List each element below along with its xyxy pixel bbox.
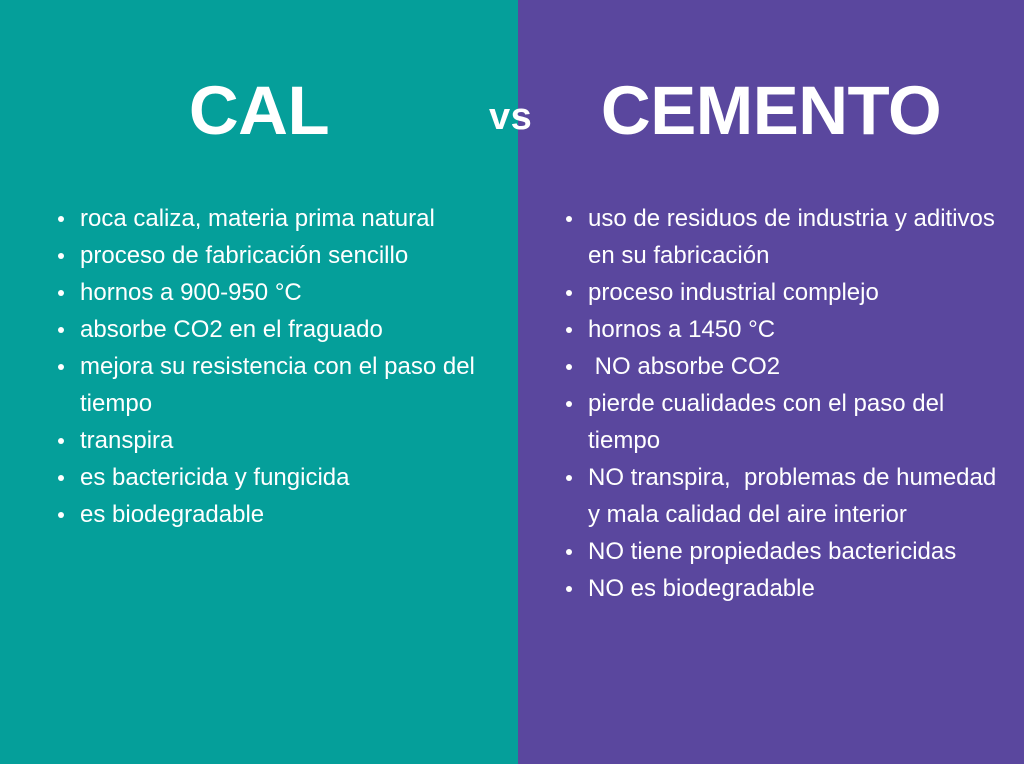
list-item: mejora su resistencia con el paso del ti… [56, 348, 496, 422]
list-item: NO absorbe CO2 [564, 348, 1014, 385]
vs-label: vs [489, 98, 532, 136]
left-panel-bullet-list: roca caliza, materia prima naturalproces… [56, 200, 496, 533]
list-item: NO tiene propiedades bactericidas [564, 533, 1014, 570]
left-panel-title: CAL [0, 76, 518, 145]
right-panel-bullet-list: uso de residuos de industria y aditivos … [564, 200, 1014, 607]
comparison-slide: CAL CEMENTO vs roca caliza, materia prim… [0, 0, 1024, 768]
list-item: pierde cualidades con el paso del tiempo [564, 385, 1014, 459]
bottom-strip [0, 764, 1024, 768]
list-item: NO es biodegradable [564, 570, 1014, 607]
list-item: uso de residuos de industria y aditivos … [564, 200, 1014, 274]
list-item: proceso industrial complejo [564, 274, 1014, 311]
list-item: proceso de fabricación sencillo [56, 237, 496, 274]
list-item: roca caliza, materia prima natural [56, 200, 496, 237]
list-item: es biodegradable [56, 496, 496, 533]
list-item: transpira [56, 422, 496, 459]
list-item: NO transpira, problemas de humedad y mal… [564, 459, 1014, 533]
list-item: hornos a 1450 °C [564, 311, 1014, 348]
list-item: hornos a 900-950 °C [56, 274, 496, 311]
list-item: es bactericida y fungicida [56, 459, 496, 496]
list-item: absorbe CO2 en el fraguado [56, 311, 496, 348]
right-panel-title: CEMENTO [518, 76, 1024, 145]
